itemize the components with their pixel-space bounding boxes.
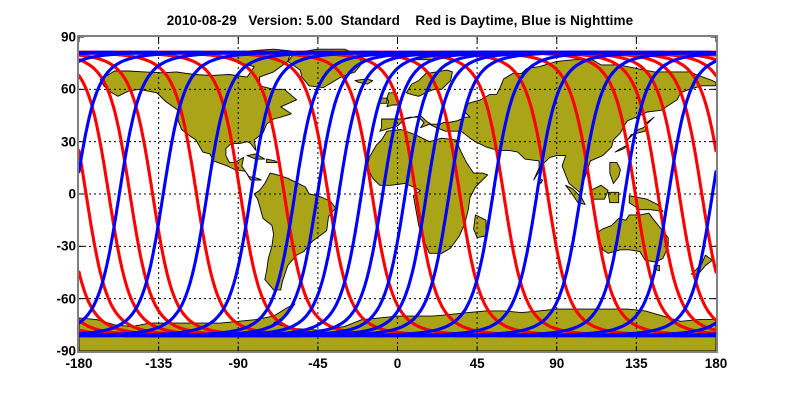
x-tick-label: 0 (394, 356, 402, 371)
y-tick-label: 30 (61, 134, 76, 149)
y-tick-label: 60 (61, 82, 76, 97)
x-tick-label: 90 (549, 356, 564, 371)
plot-title: 2010-08-29 Version: 5.00 Standard Red is… (0, 13, 800, 28)
x-tick-label: -90 (228, 356, 248, 371)
y-tick-label: -30 (56, 239, 76, 254)
x-tick-label: -45 (308, 356, 328, 371)
x-tick-label: -135 (145, 356, 172, 371)
x-tick-label: -180 (65, 356, 92, 371)
x-tick-label: 180 (705, 356, 728, 371)
x-tick-label: 135 (625, 356, 648, 371)
figure-root: 2010-08-29 Version: 5.00 Standard Red is… (0, 0, 800, 400)
y-tick-label: 0 (68, 187, 76, 202)
plot-area (77, 35, 718, 353)
y-tick-label: -60 (56, 291, 76, 306)
ground-track-plot (79, 37, 716, 351)
x-tick-label: 45 (470, 356, 485, 371)
y-tick-label: 90 (61, 30, 76, 45)
